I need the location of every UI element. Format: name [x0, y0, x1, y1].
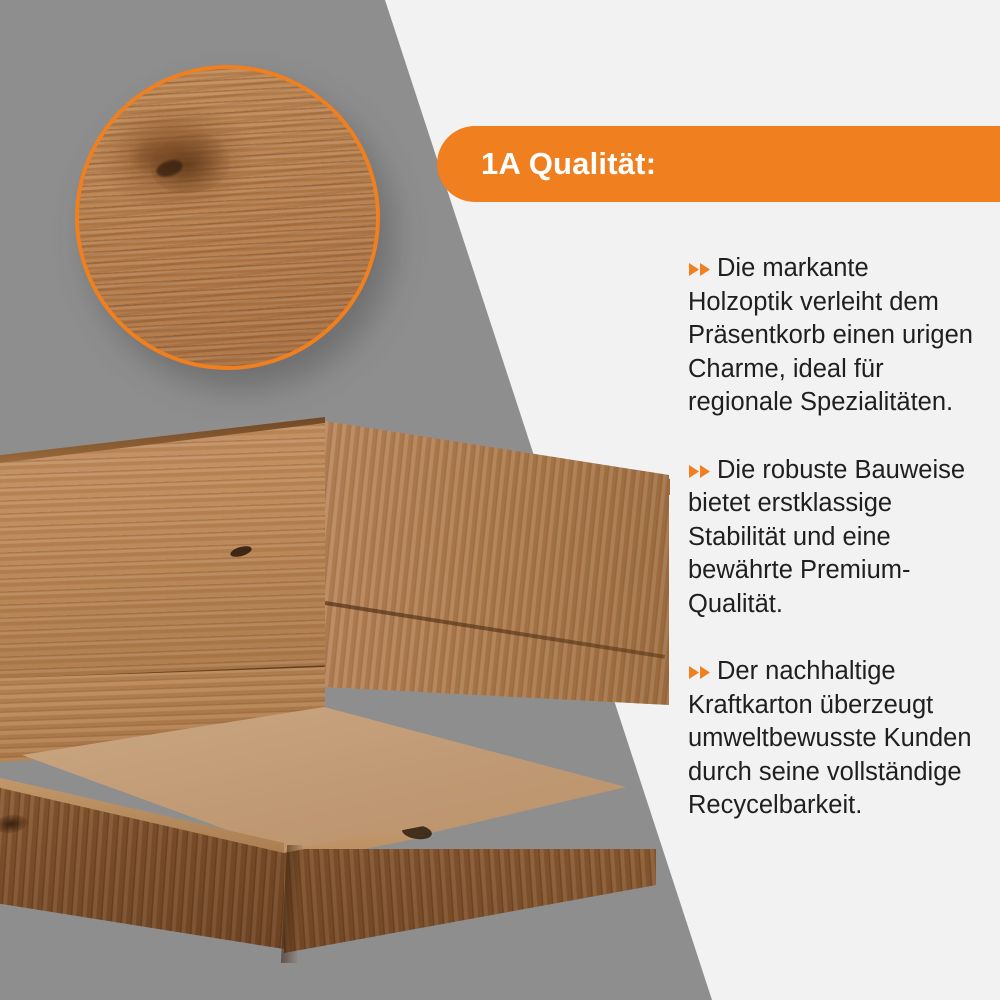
feature-item-1: Die markante Holzoptik verleiht dem Präs…	[688, 252, 980, 420]
wood-grain-texture	[75, 65, 380, 370]
quality-banner: 1A Qualität:	[437, 126, 1000, 202]
feature-text-1: Die markante Holzoptik verleiht dem Präs…	[688, 252, 980, 420]
feature-copy-1: Die markante Holzoptik verleiht dem Präs…	[688, 254, 973, 416]
feature-text-3: Der nachhaltige Kraftkarton überzeugt um…	[688, 655, 980, 823]
basket-knot-front-left	[0, 813, 29, 836]
feature-list: Die markante Holzoptik verleiht dem Präs…	[688, 252, 980, 823]
double-chevron-icon	[688, 464, 714, 479]
basket-knot-back	[229, 544, 253, 559]
wood-grain-detail-circle	[75, 65, 380, 370]
basket-seam-right	[325, 601, 665, 659]
feature-item-2: Die robuste Bauweise bietet erstklassige…	[688, 454, 980, 622]
feature-item-3: Der nachhaltige Kraftkarton überzeugt um…	[688, 655, 980, 823]
product-feature-graphic: 1A Qualität: Die markante Holzoptik verl…	[0, 0, 1000, 1000]
double-chevron-icon	[688, 262, 714, 277]
feature-copy-3: Der nachhaltige Kraftkarton überzeugt um…	[688, 657, 972, 819]
feature-copy-2: Die robuste Bauweise bietet erstklassige…	[688, 456, 965, 618]
quality-banner-title: 1A Qualität:	[481, 146, 656, 182]
praesentkorb-product-image	[0, 405, 684, 965]
feature-text-2: Die robuste Bauweise bietet erstklassige…	[688, 454, 980, 622]
double-chevron-icon	[688, 665, 714, 680]
